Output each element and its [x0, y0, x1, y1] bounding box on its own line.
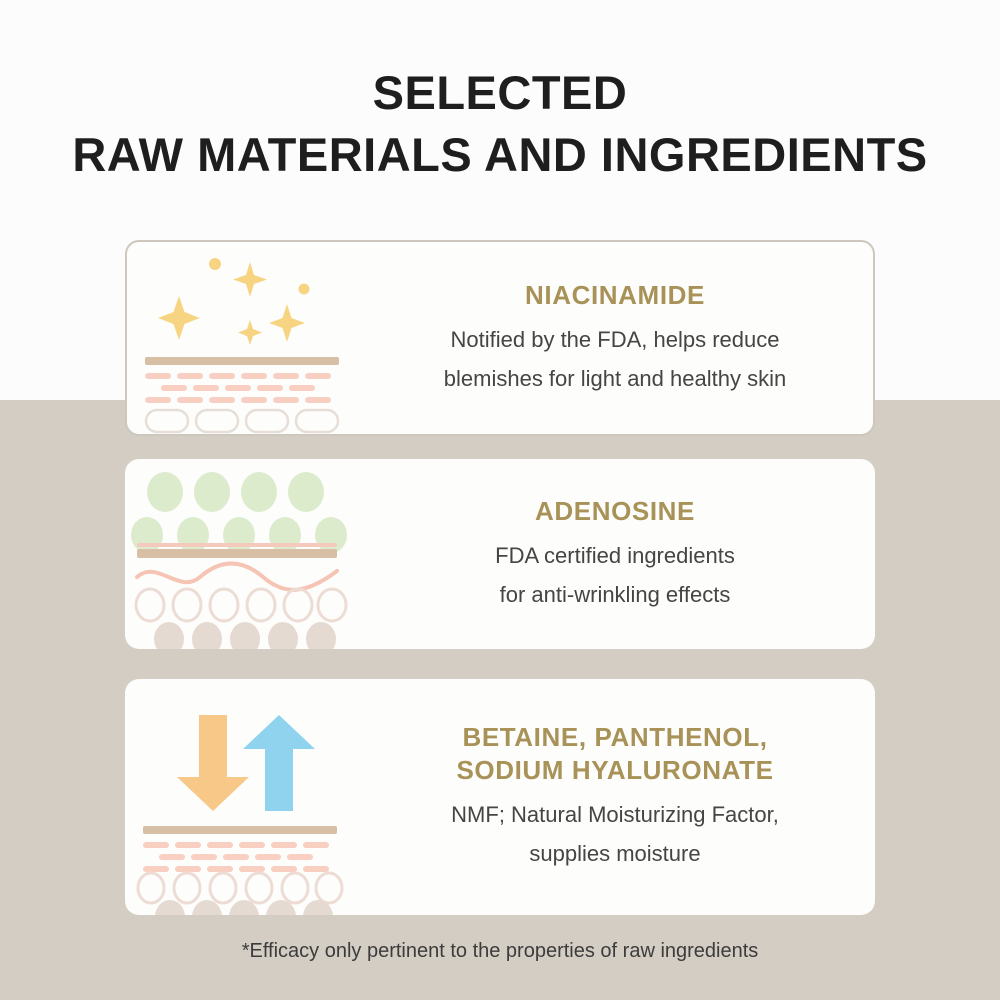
efficacy-footnote: *Efficacy only pertinent to the properti…	[0, 940, 1000, 963]
card-text-betaine: BETAINE, PANTHENOL, SODIUM HYALURONATE N…	[375, 721, 875, 873]
page-title-line-1: SELECTED	[0, 62, 1000, 124]
card-text-niacinamide: NIACINAMIDE Notified by the FDA, helps r…	[377, 279, 873, 398]
ingredient-card-betaine-panthenol-sodium-hyaluronate: BETAINE, PANTHENOL, SODIUM HYALURONATE N…	[125, 679, 875, 915]
page-title: SELECTED RAW MATERIALS AND INGREDIENTS	[0, 62, 1000, 186]
up-arrow-icon	[243, 715, 315, 811]
ingredient-infographic-page: SELECTED RAW MATERIALS AND INGREDIENTS	[0, 0, 1000, 1000]
page-title-line-2: RAW MATERIALS AND INGREDIENTS	[0, 124, 1000, 186]
green-particles-smoothing-skin-icon	[125, 459, 375, 649]
ingredient-card-niacinamide: NIACINAMIDE Notified by the FDA, helps r…	[125, 240, 875, 436]
card-title-betaine: BETAINE, PANTHENOL, SODIUM HYALURONATE	[375, 721, 855, 787]
sparkles-over-skin-layers-icon	[127, 242, 377, 434]
card-title-niacinamide: NIACINAMIDE	[377, 279, 853, 312]
card-description-betaine: NMF; Natural Moisturizing Factor, suppli…	[375, 795, 855, 873]
card-text-adenosine: ADENOSINE FDA certified ingredients for …	[375, 495, 875, 614]
card-description-adenosine: FDA certified ingredients for anti-wrink…	[375, 536, 855, 614]
ingredient-card-adenosine: ADENOSINE FDA certified ingredients for …	[125, 459, 875, 649]
down-arrow-icon	[177, 715, 249, 811]
moisture-exchange-arrows-skin-icon	[125, 679, 375, 915]
card-description-niacinamide: Notified by the FDA, helps reduce blemis…	[377, 320, 853, 398]
card-title-adenosine: ADENOSINE	[375, 495, 855, 528]
